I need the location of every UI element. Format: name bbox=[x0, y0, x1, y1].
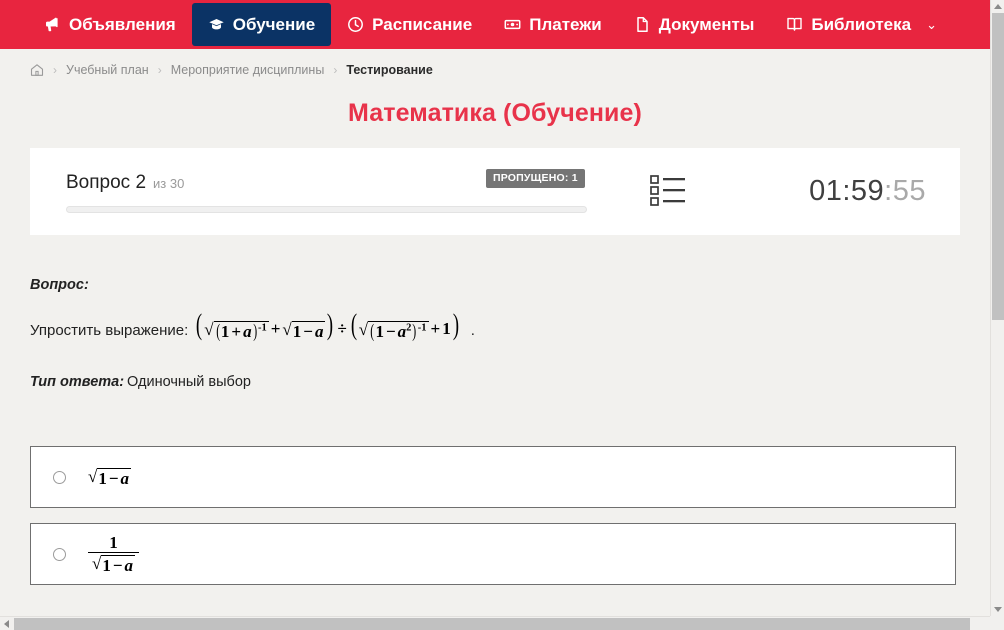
answer-options: √1−a 1 √1−a bbox=[30, 446, 960, 585]
page-title: Математика (Обучение) bbox=[0, 87, 990, 148]
question-header-card: Вопрос 2 из 30 ПРОПУЩЕНО: 1 bbox=[30, 148, 960, 235]
breadcrumb-separator: › bbox=[53, 63, 57, 77]
question-total: из 30 bbox=[153, 176, 184, 191]
nav-label: Объявления bbox=[69, 15, 176, 35]
answer-option-1-math: √1−a bbox=[88, 467, 131, 487]
megaphone-icon bbox=[44, 16, 61, 33]
nav-label: Расписание bbox=[372, 15, 472, 35]
horizontal-scrollbar[interactable] bbox=[0, 616, 1004, 630]
answer-type-row: Тип ответа:Одиночный выбор bbox=[30, 374, 960, 390]
question-formula: (√(1+a)-1+√1−a)÷(√(1−a2)-1+1) bbox=[194, 313, 460, 340]
answer-type-label: Тип ответа: bbox=[30, 374, 124, 390]
nav-item-payments[interactable]: Платежи bbox=[488, 3, 618, 46]
question-list-icon[interactable] bbox=[650, 174, 686, 207]
horizontal-scrollbar-thumb[interactable] bbox=[14, 618, 970, 630]
page-content: Объявления Обучение Ра bbox=[0, 0, 990, 616]
answer-option-2-math: 1 √1−a bbox=[88, 534, 139, 574]
answer-option-2[interactable]: 1 √1−a bbox=[30, 523, 956, 585]
breadcrumb-separator: › bbox=[158, 63, 162, 77]
browser-viewport: Объявления Обучение Ра bbox=[0, 0, 1004, 630]
scroll-left-arrow-icon[interactable] bbox=[4, 620, 9, 628]
clock-icon bbox=[347, 16, 364, 33]
timer-main: 01:59 bbox=[809, 175, 884, 207]
nav-label: Платежи bbox=[529, 15, 602, 35]
status-badge-skipped: ПРОПУЩЕНО: 1 bbox=[486, 169, 585, 188]
nav-label: Обучение bbox=[233, 15, 315, 35]
nav-item-schedule[interactable]: Расписание bbox=[331, 3, 488, 46]
document-icon bbox=[634, 16, 651, 33]
breadcrumb-item-curriculum[interactable]: Учебный план bbox=[66, 63, 149, 77]
question-body: Вопрос: Упростить выражение: (√(1+a)-1+√… bbox=[0, 277, 990, 585]
breadcrumb-separator: › bbox=[333, 63, 337, 77]
graduation-cap-icon bbox=[208, 16, 225, 33]
question-progress-block: Вопрос 2 из 30 ПРОПУЩЕНО: 1 bbox=[66, 170, 591, 213]
question-section-label: Вопрос: bbox=[30, 277, 960, 293]
vertical-scrollbar[interactable] bbox=[990, 0, 1004, 616]
breadcrumb: › Учебный план › Мероприятие дисциплины … bbox=[0, 49, 990, 87]
scroll-up-arrow-icon[interactable] bbox=[994, 4, 1002, 9]
nav-item-library[interactable]: Библиотека ⌄ bbox=[770, 3, 953, 46]
scrollbar-corner bbox=[990, 616, 1004, 630]
nav-label: Библиотека bbox=[811, 15, 911, 35]
question-trailing-period: . bbox=[471, 322, 475, 340]
question-progress-bar bbox=[66, 206, 587, 213]
main-navigation: Объявления Обучение Ра bbox=[0, 0, 990, 49]
banknote-icon bbox=[504, 16, 521, 33]
breadcrumb-item-discipline-event[interactable]: Мероприятие дисциплины bbox=[171, 63, 325, 77]
nav-item-documents[interactable]: Документы bbox=[618, 3, 771, 46]
nav-label: Документы bbox=[659, 15, 755, 35]
question-list-block bbox=[591, 174, 744, 209]
scroll-down-arrow-icon[interactable] bbox=[994, 607, 1002, 612]
question-number: Вопрос 2 bbox=[66, 172, 146, 194]
home-icon[interactable] bbox=[30, 63, 44, 77]
timer-block: 01:59:55 bbox=[744, 175, 934, 208]
question-prompt-text: Упростить выражение: bbox=[30, 322, 188, 340]
timer-seconds: :55 bbox=[884, 175, 926, 207]
chevron-down-icon[interactable]: ⌄ bbox=[926, 18, 937, 31]
question-prompt-row: Упростить выражение: (√(1+a)-1+√1−a)÷(√(… bbox=[30, 313, 960, 340]
radio-button[interactable] bbox=[53, 548, 66, 561]
answer-type-value: Одиночный выбор bbox=[127, 374, 251, 390]
breadcrumb-item-testing: Тестирование bbox=[346, 63, 433, 77]
vertical-scrollbar-thumb[interactable] bbox=[992, 13, 1004, 320]
radio-button[interactable] bbox=[53, 471, 66, 484]
nav-item-learning[interactable]: Обучение bbox=[192, 3, 331, 46]
answer-option-1[interactable]: √1−a bbox=[30, 446, 956, 508]
book-icon bbox=[786, 16, 803, 33]
nav-item-announcements[interactable]: Объявления bbox=[28, 3, 192, 46]
